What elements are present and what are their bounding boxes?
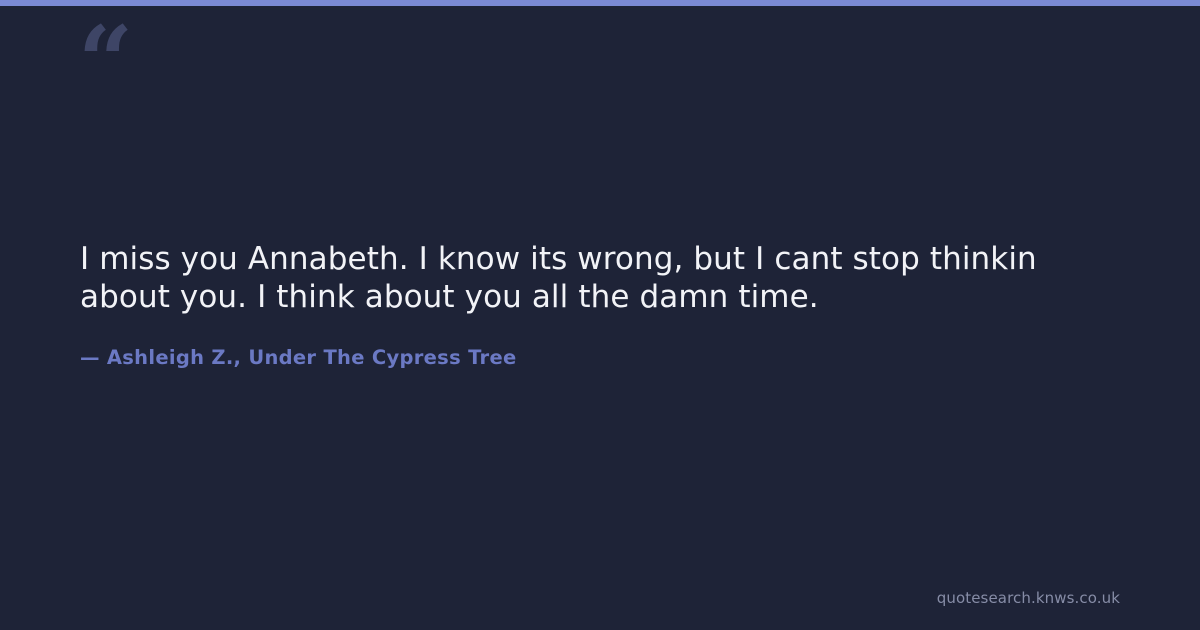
quote-content: I miss you Annabeth. I know its wrong, b… (80, 240, 1120, 369)
site-watermark: quotesearch.knws.co.uk (937, 589, 1120, 607)
quotation-mark-icon: “ (78, 14, 131, 110)
top-accent-bar (0, 0, 1200, 6)
quote-card: “ I miss you Annabeth. I know its wrong,… (0, 0, 1200, 630)
quote-attribution: — Ashleigh Z., Under The Cypress Tree (80, 316, 1120, 369)
quote-text: I miss you Annabeth. I know its wrong, b… (80, 240, 1120, 316)
